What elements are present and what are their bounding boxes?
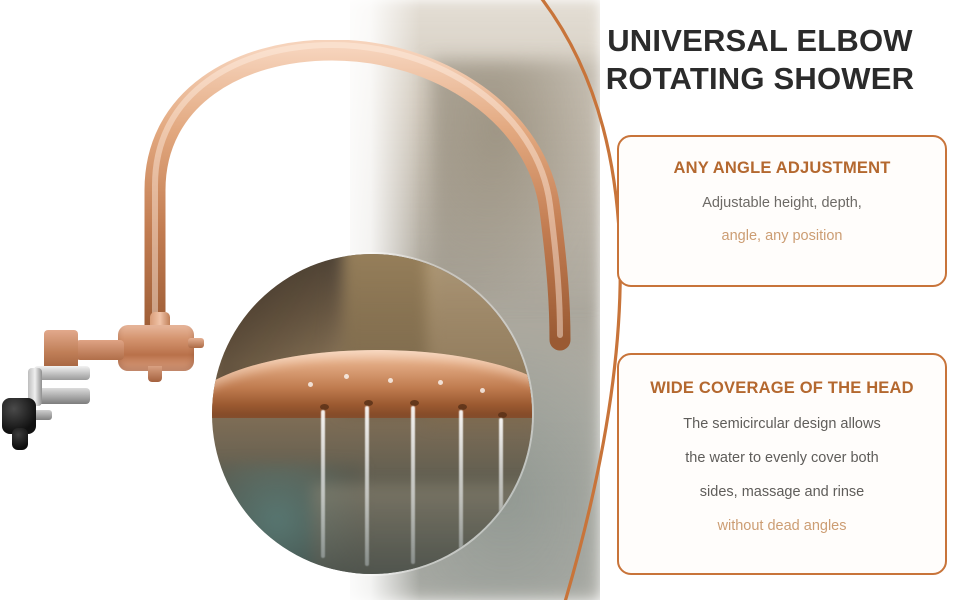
feature-card-line: The semicircular design allows — [619, 416, 945, 432]
feature-card-angle-adjustment: ANY ANGLE ADJUSTMENT Adjustable height, … — [617, 135, 947, 287]
feature-card-line: Adjustable height, depth, — [619, 195, 945, 211]
adjustment-screw-bottom — [148, 366, 162, 382]
headline-line-2: ROTATING SHOWER — [560, 60, 960, 98]
closeup-inset — [212, 254, 532, 574]
feature-card-title: ANY ANGLE ADJUSTMENT — [619, 159, 945, 178]
feature-card-line: angle, any position — [619, 228, 945, 244]
feature-card-wide-coverage: WIDE COVERAGE OF THE HEAD The semicircul… — [617, 353, 947, 575]
feature-card-line: sides, massage and rinse — [619, 484, 945, 500]
tightening-knob — [0, 398, 46, 450]
headline-line-1: UNIVERSAL ELBOW — [560, 22, 960, 60]
product-photo — [0, 0, 600, 600]
page-title: UNIVERSAL ELBOW ROTATING SHOWER — [560, 22, 960, 98]
rotating-joint-body — [118, 325, 194, 371]
product-banner: UNIVERSAL ELBOW ROTATING SHOWER ANY ANGL… — [0, 0, 970, 600]
adjustment-screw-right — [188, 338, 204, 348]
feature-card-line: without dead angles — [619, 518, 945, 534]
bracket-arm — [76, 340, 124, 360]
info-panel: UNIVERSAL ELBOW ROTATING SHOWER ANY ANGL… — [560, 0, 970, 600]
feature-card-title: WIDE COVERAGE OF THE HEAD — [619, 379, 945, 398]
feature-card-line: the water to evenly cover both — [619, 450, 945, 466]
